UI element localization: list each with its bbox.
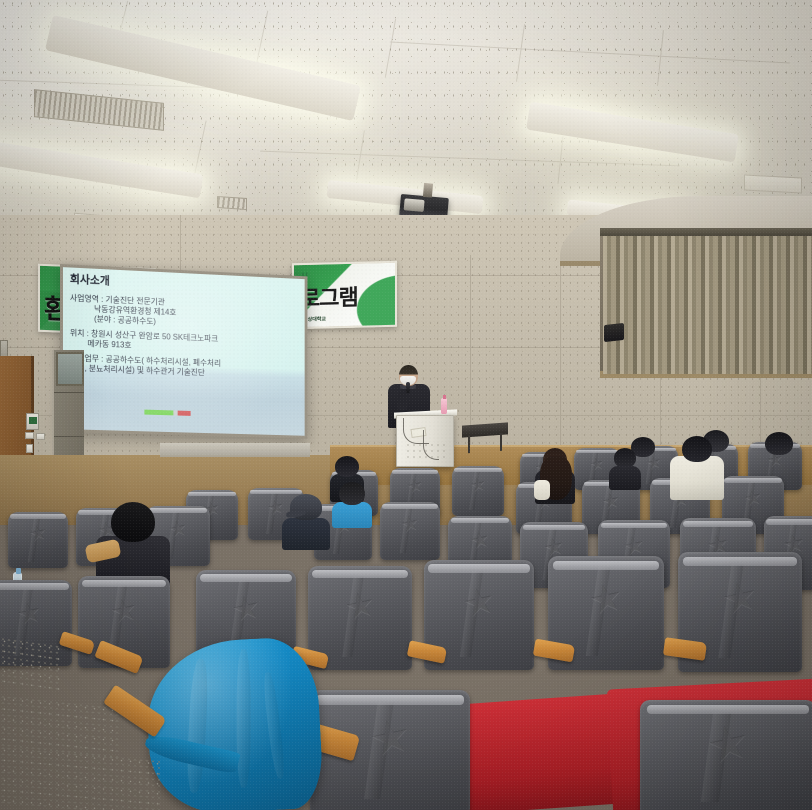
seat xyxy=(8,512,68,568)
side-table xyxy=(462,422,508,437)
light-switch-a[interactable] xyxy=(25,432,34,439)
front-bench xyxy=(160,443,310,457)
torso xyxy=(282,518,330,550)
banner-right-text: 로그램 xyxy=(300,280,358,313)
hvac-vent-right xyxy=(217,196,247,210)
head xyxy=(614,448,636,468)
draped-blue-jacket xyxy=(144,636,325,810)
microphone-icon xyxy=(406,382,410,393)
slide-content: 회사소개 사업영역 : 기술진단 전문기관 낙동강유역환경청 제14호 (분야 … xyxy=(63,267,305,392)
head xyxy=(765,432,793,455)
slide-block-1: 위치 : 창원시 성산구 완암로 50 SK테크노파크 메카동 913호 xyxy=(70,328,298,357)
outlet[interactable] xyxy=(26,444,33,453)
seat xyxy=(640,700,812,810)
auditorium-photo: 환경 U 로그램 경상대학교 회사소개 사업영역 : 기술진단 전문기관 낙동강… xyxy=(0,0,812,810)
slide-footer-logo-icon xyxy=(145,410,191,416)
fabric-fold xyxy=(237,650,251,788)
slide-block-2: 주요업무 : 공공하수도( 하수처리시설, 폐수처리 시설, 분뇨처리시설) 및… xyxy=(70,353,298,381)
floor-step xyxy=(0,636,60,690)
fabric-fold xyxy=(186,659,210,794)
fabric-fold xyxy=(262,672,287,779)
ceiling-panel-c xyxy=(744,174,802,193)
pink-water-bottle xyxy=(441,398,447,414)
white-top xyxy=(534,480,550,500)
hoodie xyxy=(670,456,724,500)
door-window xyxy=(56,352,84,386)
head xyxy=(335,456,359,477)
projector-mount xyxy=(423,183,433,198)
podium xyxy=(396,415,454,467)
attendee-blue-shirt xyxy=(332,482,372,526)
slide-block-0: 사업영역 : 기술진단 전문기관 낙동강유역환경청 제14호 (분야 : 공공하… xyxy=(70,293,298,333)
wall-speaker xyxy=(604,323,624,342)
projection-screen: 회사소개 사업영역 : 기술진단 전문기관 낙동강유역환경청 제14호 (분야 … xyxy=(60,264,307,439)
seat xyxy=(380,502,440,560)
attendee-mask-rear xyxy=(608,448,642,488)
attendee-white-hoodie xyxy=(668,436,726,498)
torso xyxy=(332,502,372,528)
torso xyxy=(609,466,641,490)
attendee-cap xyxy=(282,492,330,548)
curtain-rail xyxy=(600,228,812,236)
projected-slide: 회사소개 사업영역 : 기술진단 전문기관 낙동강유역환경청 제14호 (분야 … xyxy=(63,267,305,436)
banner-right: U 로그램 경상대학교 xyxy=(292,261,397,330)
seat xyxy=(452,466,504,516)
window-curtain xyxy=(603,232,812,374)
head xyxy=(339,482,365,505)
attendee-long-hair xyxy=(532,448,578,504)
attendee-far-right-2 xyxy=(762,432,796,466)
wall-control-panel[interactable] xyxy=(26,413,39,430)
floor-step xyxy=(0,745,160,810)
projector-lens xyxy=(404,198,425,212)
head xyxy=(682,436,712,462)
head xyxy=(111,502,155,542)
light-switch-b[interactable] xyxy=(36,433,45,440)
